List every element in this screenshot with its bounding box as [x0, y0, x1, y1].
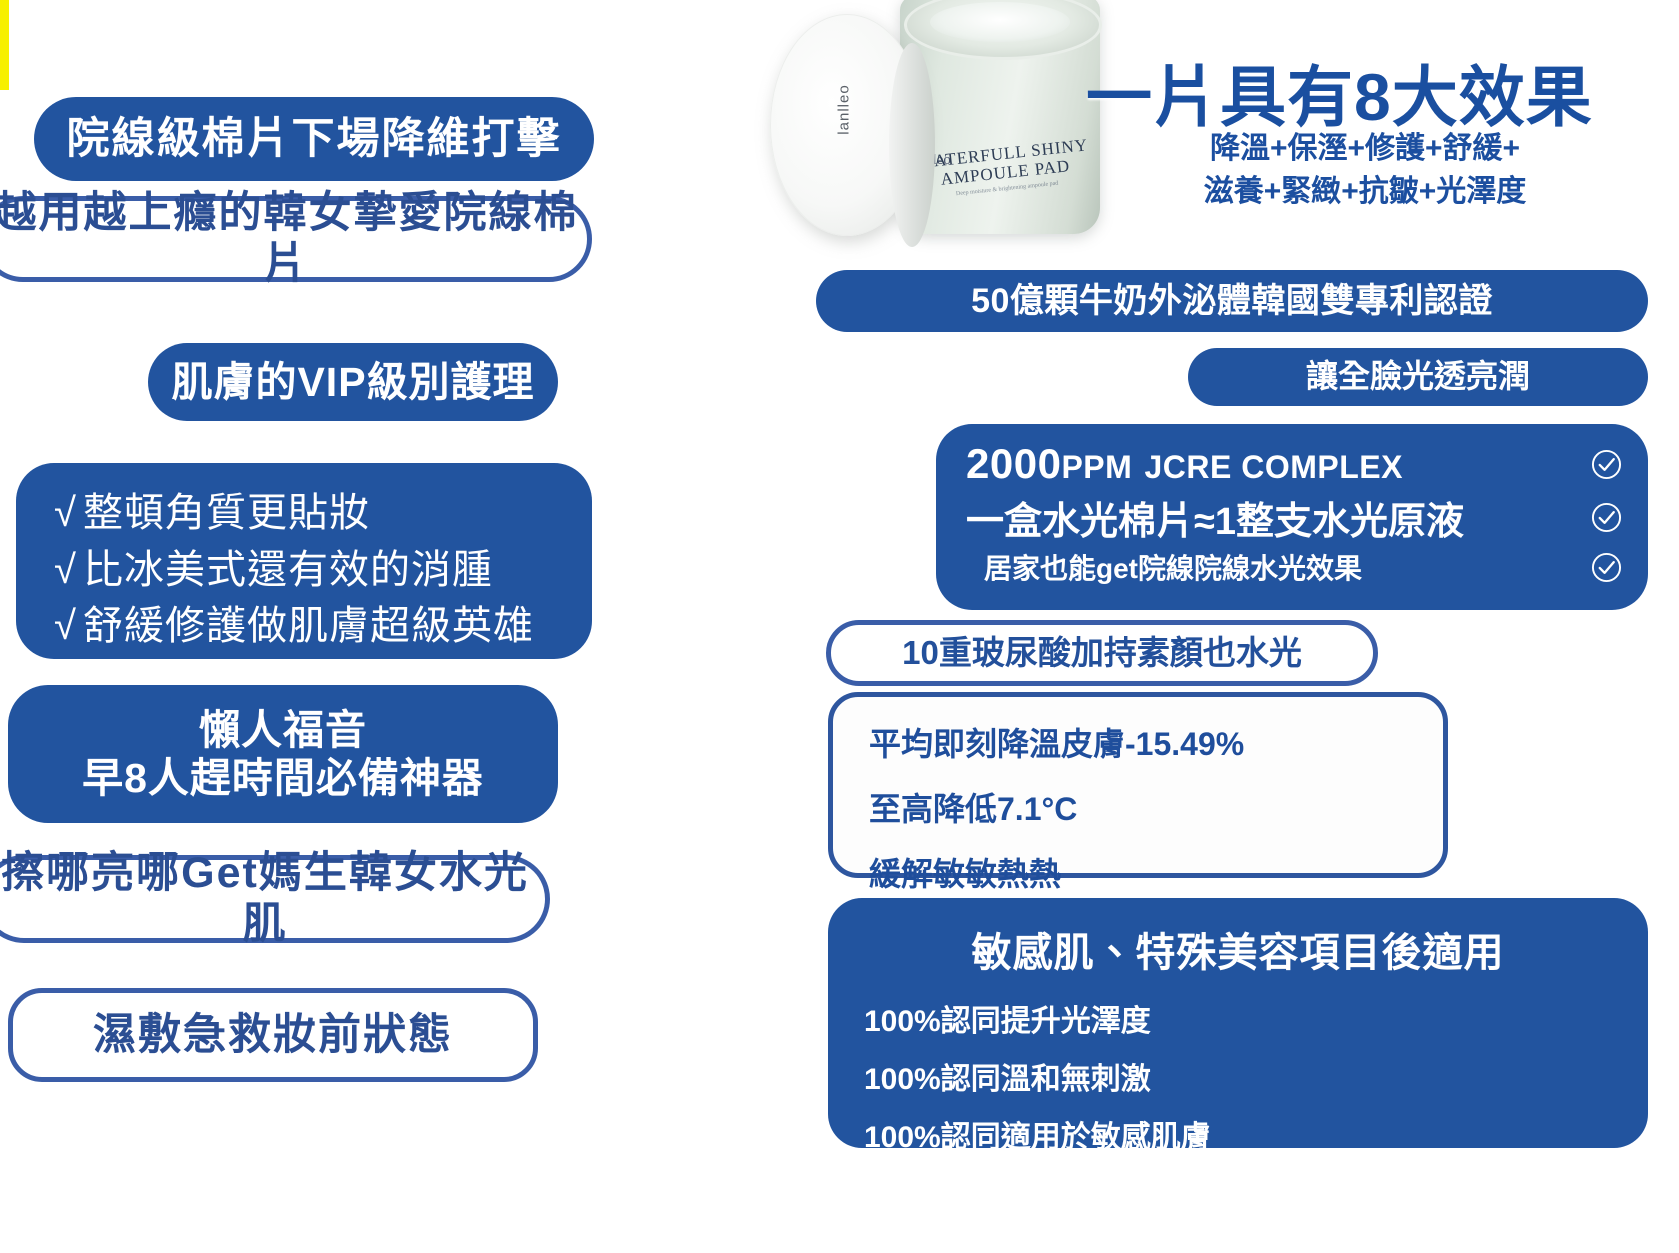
banner-hyaluronic-box: 10重玻尿酸加持素顏也水光: [826, 620, 1378, 686]
benefit-item-2: √比冰美式還有效的消腫: [54, 542, 493, 599]
circle-check-icon: [1591, 449, 1622, 480]
claim-benefit-list-box: √整頓角質更貼妝 √比冰美式還有效的消腫 √舒緩修護做肌膚超級英雄: [16, 463, 592, 659]
banner-glow-text: 讓全臉光透亮潤: [1306, 358, 1530, 396]
claim-addictive-text: 越用越上癮的韓女摯愛院線棉片: [0, 188, 587, 289]
claim-clinic-grade-text: 院線級棉片下場降維打擊: [67, 114, 562, 165]
claim-vip-care-box: 肌膚的VIP級別護理: [148, 343, 558, 421]
jcre-ppm-unit: PPM: [1061, 449, 1132, 485]
claim-clinic-grade-box: 院線級棉片下場降維打擊: [34, 97, 594, 181]
jcre-row-2: 一盒水光棉片≈1整支水光原液: [966, 490, 1622, 545]
hero-sub-line-1: 降溫+保溼+修護+舒緩+: [1195, 128, 1535, 171]
approval-line-1: 100%認同提升光澤度: [864, 996, 1648, 1040]
jcre-ppm-value: 2000: [966, 440, 1061, 487]
claim-vip-care-text: 肌膚的VIP級別護理: [171, 358, 534, 406]
check-icon: √: [54, 598, 77, 655]
product-photo: lanlleo WATERFULL SHINY AMPOULE PAD Deep…: [762, 0, 1122, 259]
approval-line-2: 100%認同溫和無刺激: [864, 1054, 1648, 1098]
claim-addictive-box: 越用越上癮的韓女摯愛院線棉片: [0, 196, 592, 282]
infographic-canvas: 院線級棉片下場降維打擊 越用越上癮的韓女摯愛院線棉片 肌膚的VIP級別護理 √整…: [0, 0, 1679, 1253]
claim-lazy-line-2: 早8人趕時間必備神器: [82, 754, 484, 802]
benefit-item-1: √整頓角質更貼妝: [54, 485, 370, 542]
claim-prep-rescue-text: 濕敷急救妝前狀態: [93, 1010, 453, 1061]
jcre-row-1-text: 2000PPM JCRE COMPLEX: [966, 440, 1403, 488]
check-icon: √: [54, 542, 77, 599]
banner-glow-box: 讓全臉光透亮潤: [1188, 348, 1648, 406]
jcre-complex-box: 2000PPM JCRE COMPLEX 一盒水光棉片≈1整支水光原液 居家也能…: [936, 424, 1648, 610]
circle-check-icon: [1591, 502, 1622, 533]
sensitive-skin-heading: 敏感肌、特殊美容項目後適用: [828, 920, 1648, 978]
jar-inner-pads: [930, 2, 1070, 42]
stat-line-2: 至高降低7.1°C: [869, 784, 1443, 830]
claim-lazy-line-1: 懶人福音: [199, 706, 367, 754]
stat-line-1: 平均即刻降溫皮膚-15.49%: [869, 719, 1443, 765]
sensitive-skin-card: 敏感肌、特殊美容項目後適用 100%認同提升光澤度 100%認同溫和無刺激 10…: [828, 898, 1648, 1148]
lid-brand-text: lanlleo: [836, 84, 853, 134]
banner-patent-text: 50億顆牛奶外泌體韓國雙專利認證: [971, 281, 1493, 321]
jcre-row-2-text: 一盒水光棉片≈1整支水光原液: [966, 490, 1464, 545]
claim-glow-anywhere-text: 擦哪亮哪Get媽生韓女水光肌: [0, 848, 545, 949]
banner-hyaluronic-text: 10重玻尿酸加持素顏也水光: [902, 634, 1302, 673]
hero-sub-line-2: 滋養+緊緻+抗皺+光澤度: [1195, 171, 1535, 214]
hero-title: 一片具有8大效果: [1086, 44, 1593, 140]
hero-subtitle: 降溫+保溼+修護+舒緩+ 滋養+緊緻+抗皺+光澤度: [1195, 128, 1535, 213]
claim-glow-anywhere-box: 擦哪亮哪Get媽生韓女水光肌: [0, 855, 550, 943]
jcre-complex-name: JCRE COMPLEX: [1144, 449, 1402, 485]
jar-lid: lanlleo: [770, 14, 924, 236]
banner-patent-box: 50億顆牛奶外泌體韓國雙專利認證: [816, 270, 1648, 332]
approval-line-3: 100%認同適用於敏感肌膚: [864, 1112, 1648, 1156]
stat-line-3: 緩解敏敏熱熱: [869, 849, 1443, 895]
circle-check-icon: [1591, 552, 1622, 583]
cooling-stats-card: 平均即刻降溫皮膚-15.49% 至高降低7.1°C 緩解敏敏熱熱: [828, 692, 1448, 878]
claim-lazy-people-box: 懶人福音 早8人趕時間必備神器: [8, 685, 558, 823]
claim-prep-rescue-box: 濕敷急救妝前狀態: [8, 988, 538, 1082]
benefit-item-3: √舒緩修護做肌膚超級英雄: [54, 598, 534, 655]
check-icon: √: [54, 485, 77, 542]
yellow-accent-bar: [0, 0, 9, 90]
jcre-row-3-text: 居家也能get院線院線水光效果: [984, 547, 1362, 587]
jcre-row-3: 居家也能get院線院線水光效果: [966, 547, 1622, 587]
jcre-row-1: 2000PPM JCRE COMPLEX: [966, 440, 1622, 488]
jar-lid-edge: [889, 43, 935, 247]
